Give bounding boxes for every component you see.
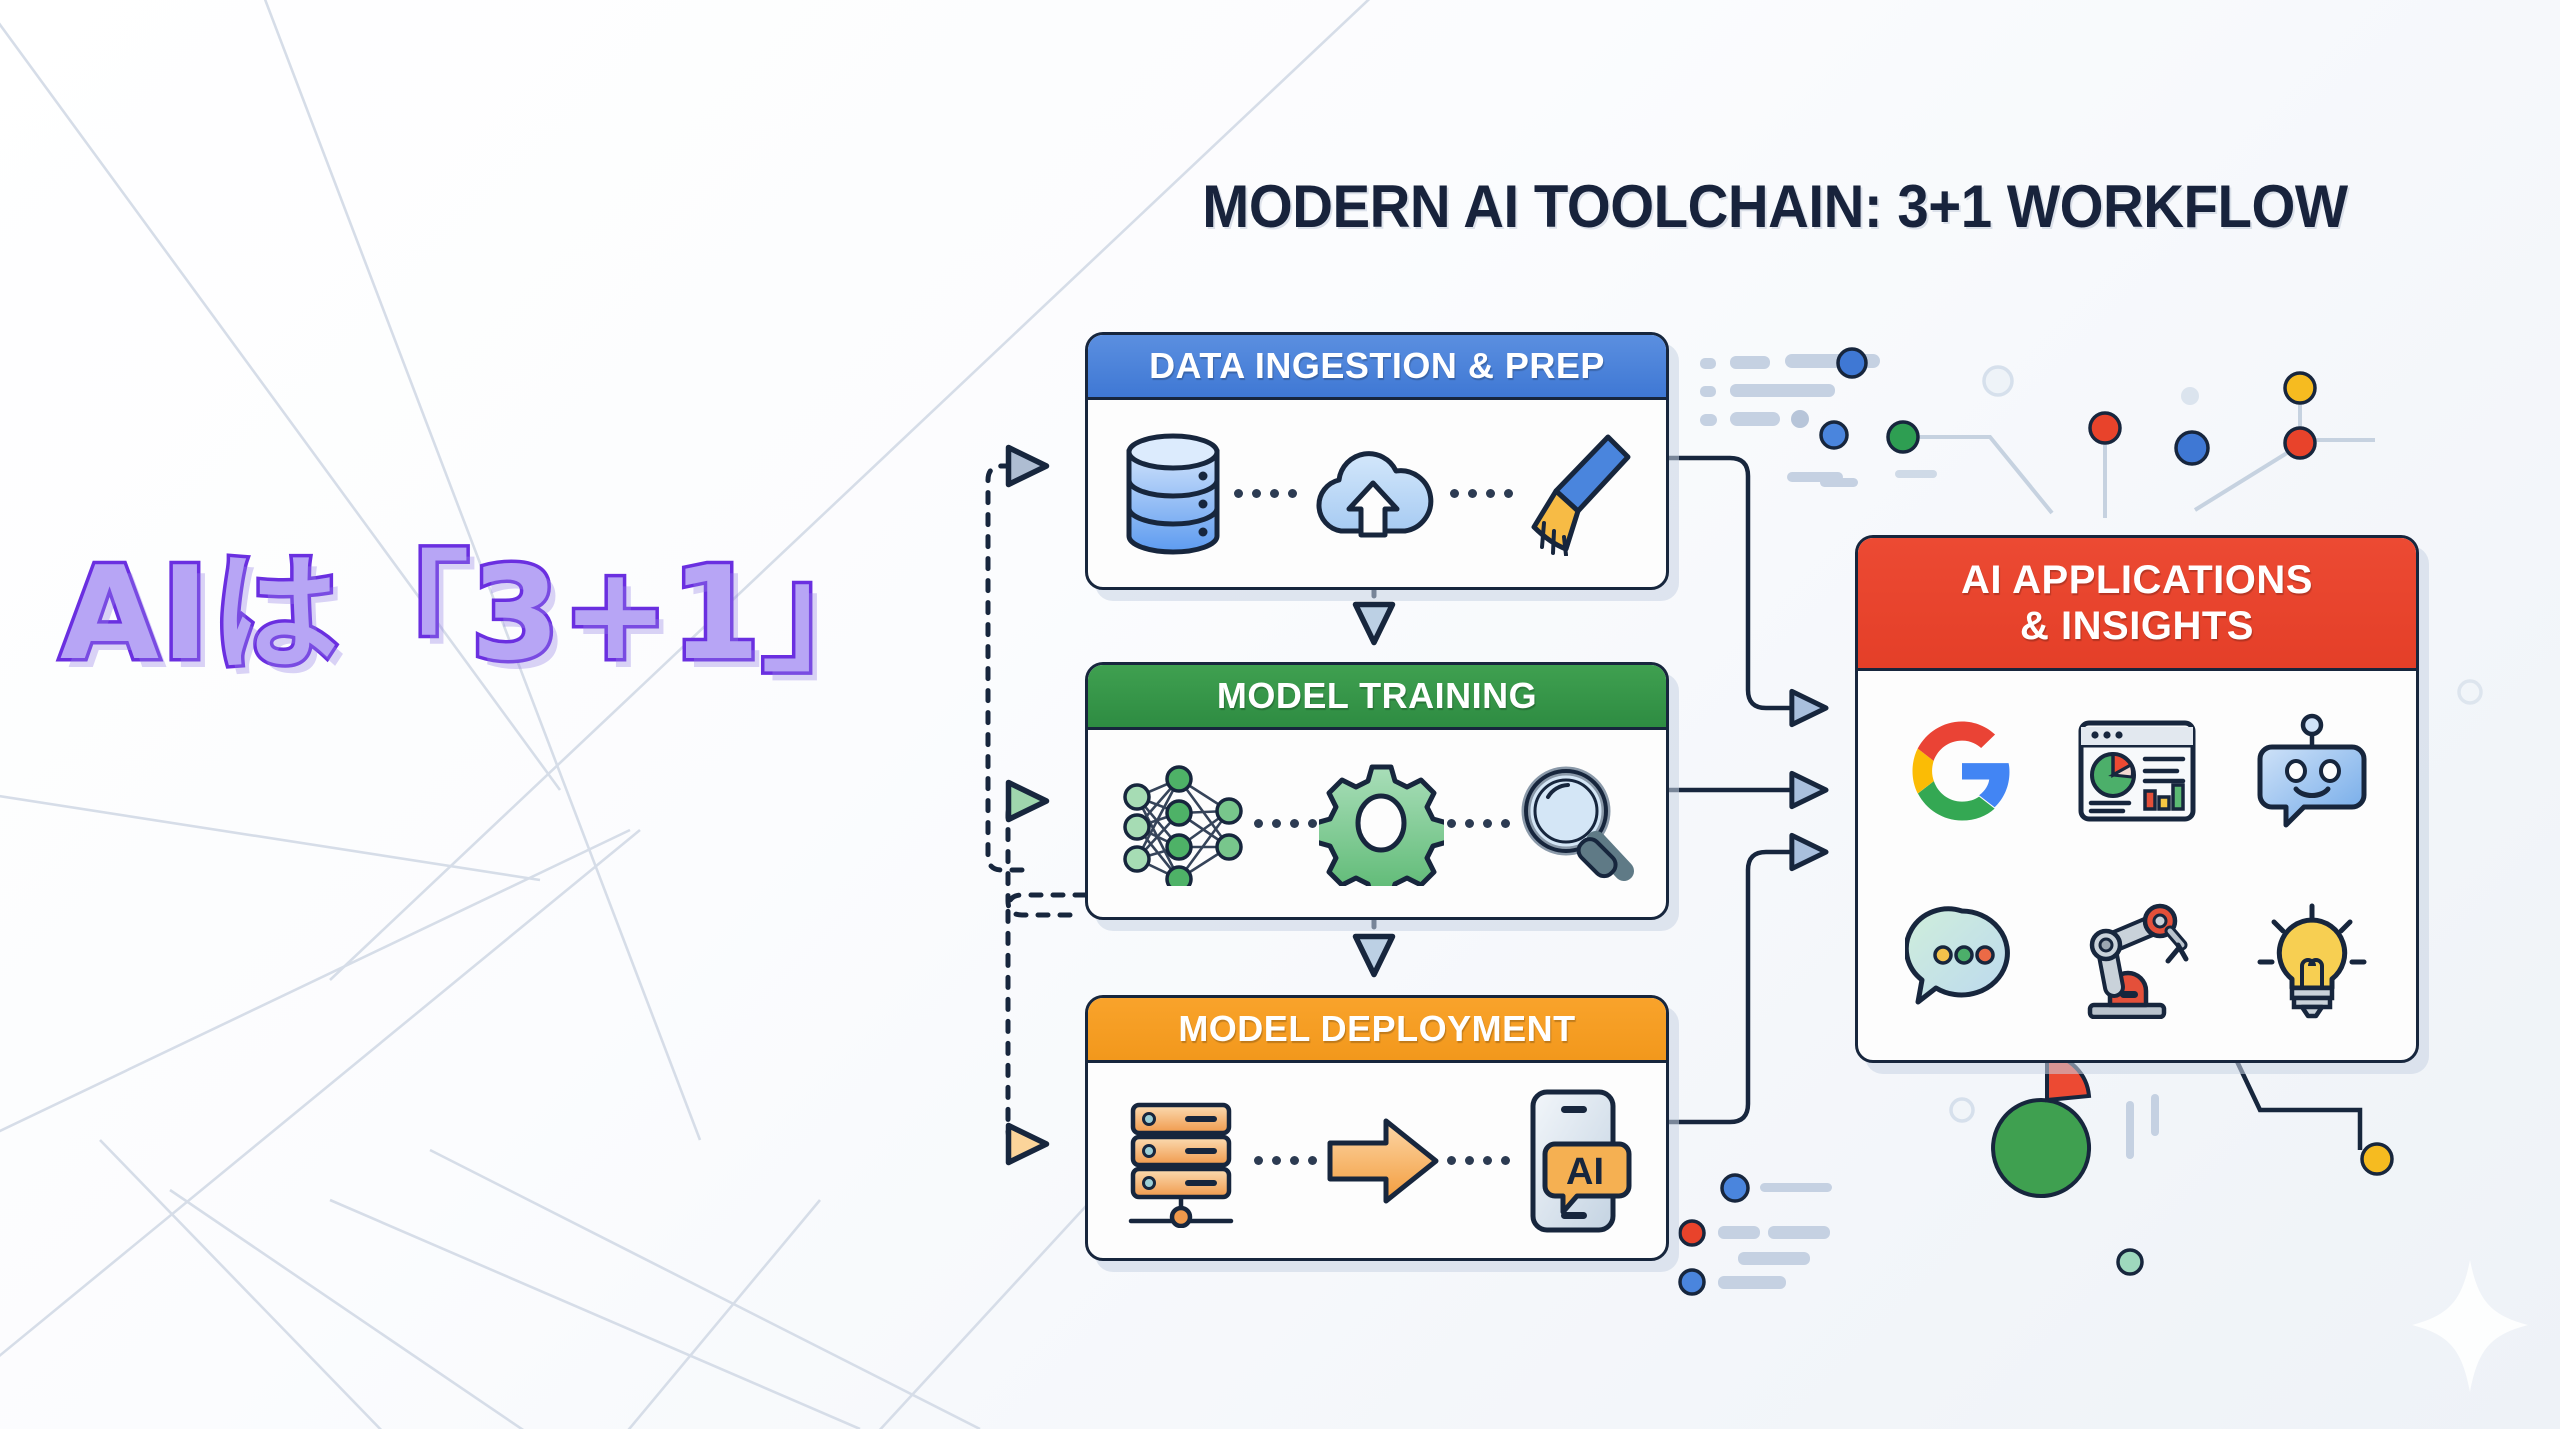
outcome-label-line2: & INSIGHTS	[2020, 603, 2254, 649]
outcome-header: AI APPLICATIONS & INSIGHTS	[1858, 538, 2416, 671]
stage-body-training	[1088, 730, 1666, 917]
flow-dots	[1254, 1156, 1317, 1165]
chatbot-robot-icon	[2254, 713, 2370, 829]
flow-dots	[1254, 819, 1317, 828]
decorative-node-lines	[1905, 390, 2375, 518]
japanese-headline-text: AIは「3+1」	[60, 545, 892, 686]
lightbulb-icon	[2254, 900, 2370, 1020]
flow-dots	[1234, 489, 1297, 498]
outcome-card-applications[interactable]: AI APPLICATIONS & INSIGHTS	[1855, 535, 2419, 1063]
arrow-right-icon	[1322, 1111, 1442, 1211]
outcome-label-line1: AI APPLICATIONS	[1961, 557, 2313, 603]
stage-header-deployment: MODEL DEPLOYMENT	[1088, 998, 1666, 1063]
decorative-tally-marks	[2130, 1098, 2155, 1155]
google-logo-icon	[1908, 717, 2016, 825]
broom-icon	[1520, 431, 1635, 556]
neural-network-icon	[1117, 761, 1252, 886]
stage-card-deployment[interactable]: MODEL DEPLOYMENT	[1085, 995, 1669, 1261]
japanese-headline: AIは「3+1」	[60, 525, 960, 705]
flow-dots	[1450, 489, 1513, 498]
dashboard-analytics-icon	[2077, 719, 2197, 823]
decorative-pie-chart	[1993, 1054, 2089, 1196]
converge-connectors	[1666, 458, 1822, 1122]
decorative-dots-right	[2181, 387, 2199, 405]
flow-dots	[1447, 819, 1510, 828]
decorative-bar-right	[1895, 470, 1937, 478]
database-icon	[1119, 432, 1227, 556]
placeholder-bars-top	[1700, 354, 1880, 487]
page-title: MODERN AI TOOLCHAIN: 3+1 WORKFLOW	[1141, 172, 2410, 241]
feedback-loop-connectors	[988, 466, 1085, 1144]
gear-icon	[1319, 761, 1444, 886]
chat-bubble-icon	[1905, 903, 2019, 1017]
outcome-icon-grid	[1858, 671, 2416, 1060]
stage-header-training: MODEL TRAINING	[1088, 665, 1666, 730]
magnifier-icon	[1512, 761, 1637, 886]
ai-badge-label: AI	[1566, 1151, 1604, 1193]
robot-arm-icon	[2074, 901, 2200, 1019]
stage-body-ingestion	[1088, 400, 1666, 587]
mobile-ai-icon: AI	[1515, 1086, 1635, 1236]
cloud-upload-icon	[1303, 439, 1443, 549]
stage-card-ingestion[interactable]: DATA INGESTION & PREP	[1085, 332, 1669, 590]
stage-body-deployment: AI	[1088, 1063, 1666, 1258]
stage-header-ingestion: DATA INGESTION & PREP	[1088, 335, 1666, 400]
server-rack-icon	[1119, 1093, 1249, 1228]
flow-dots	[1447, 1156, 1510, 1165]
stage-card-training[interactable]: MODEL TRAINING	[1085, 662, 1669, 920]
placeholder-bars-bottom	[1718, 1080, 1993, 1289]
